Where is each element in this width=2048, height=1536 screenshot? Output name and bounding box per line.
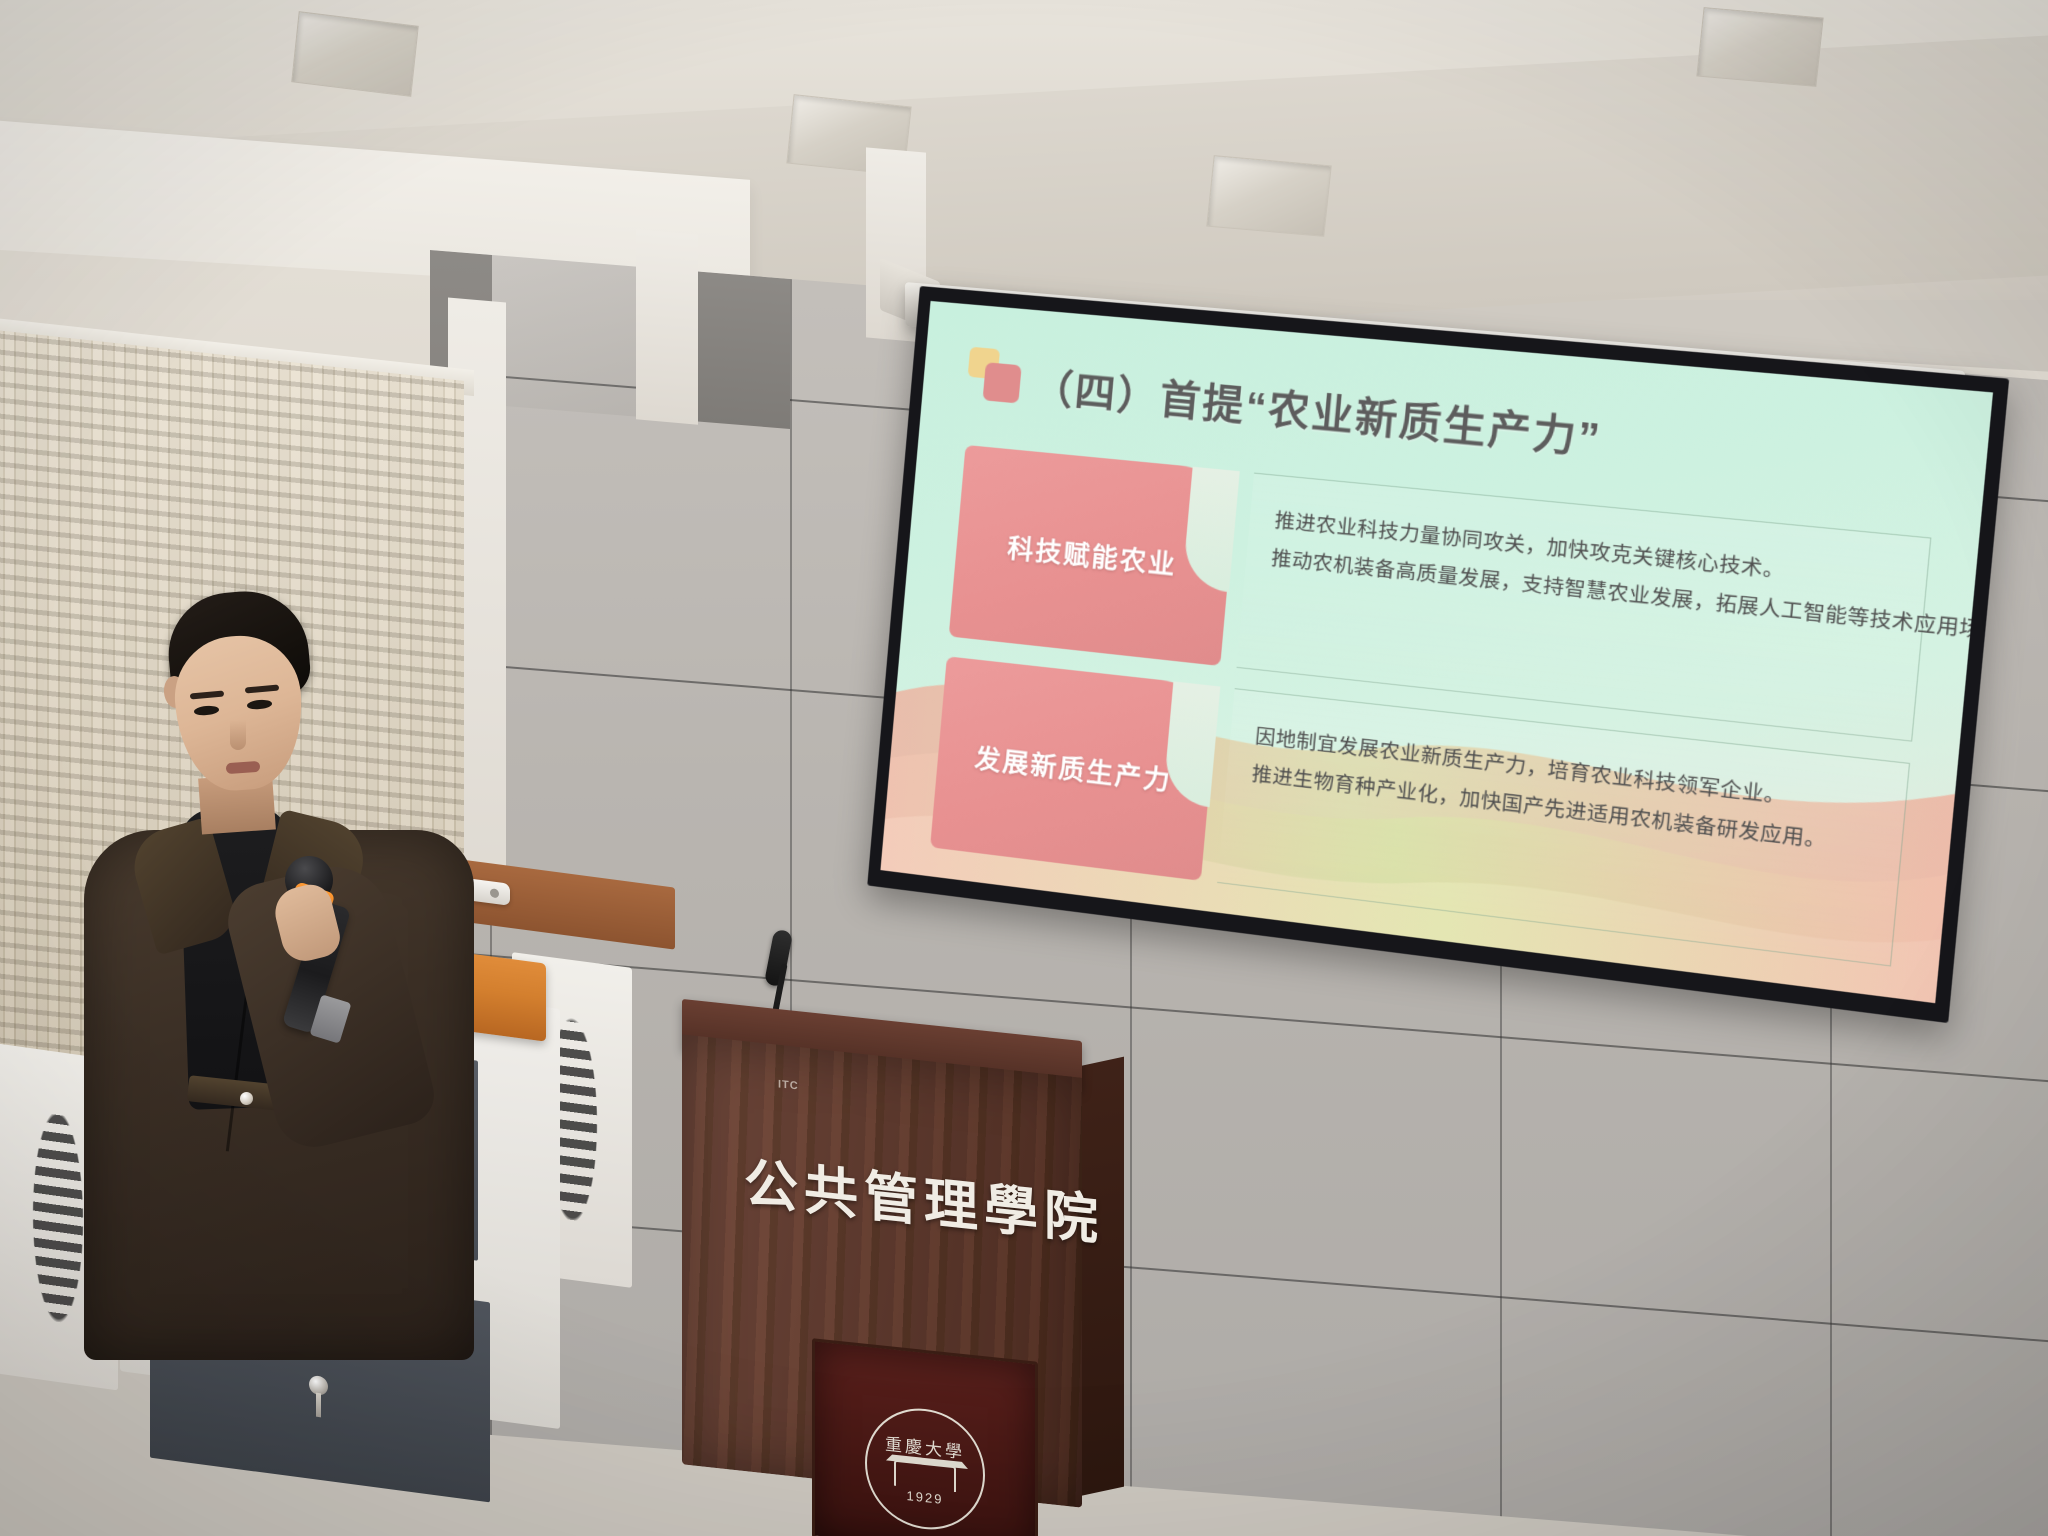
university-crest-icon: 重慶大學 1929 — [865, 1403, 985, 1536]
mouth — [226, 761, 261, 774]
lectern-brand-text: ITC — [778, 1078, 799, 1092]
presenter — [80, 580, 480, 1360]
wall-pillar — [636, 229, 698, 424]
slide-canvas: （四）首提“农业新质生产力” 科技赋能农业 推进农业科技力量协同攻关，加快攻克关… — [880, 301, 1993, 1003]
wooden-lectern: ITC 公共管理學院 重慶大學 1929 — [700, 1020, 1120, 1536]
ceiling-vent-icon — [291, 11, 419, 97]
red-square-icon — [983, 362, 1022, 403]
crest-gate-icon — [894, 1459, 956, 1492]
title-accent-mark — [966, 347, 1024, 406]
slide-title: （四）首提“农业新质生产力” — [1031, 355, 1605, 466]
ceiling-vent-icon — [1206, 155, 1332, 237]
lecture-hall-photo: Redleaf — [0, 0, 2048, 1536]
crest-panel: 重慶大學 1929 — [812, 1338, 1038, 1536]
nose — [230, 720, 246, 750]
ceiling-vent-icon — [1696, 7, 1823, 87]
crest-year: 1929 — [907, 1488, 944, 1507]
jacket-snap-button — [240, 1092, 253, 1105]
